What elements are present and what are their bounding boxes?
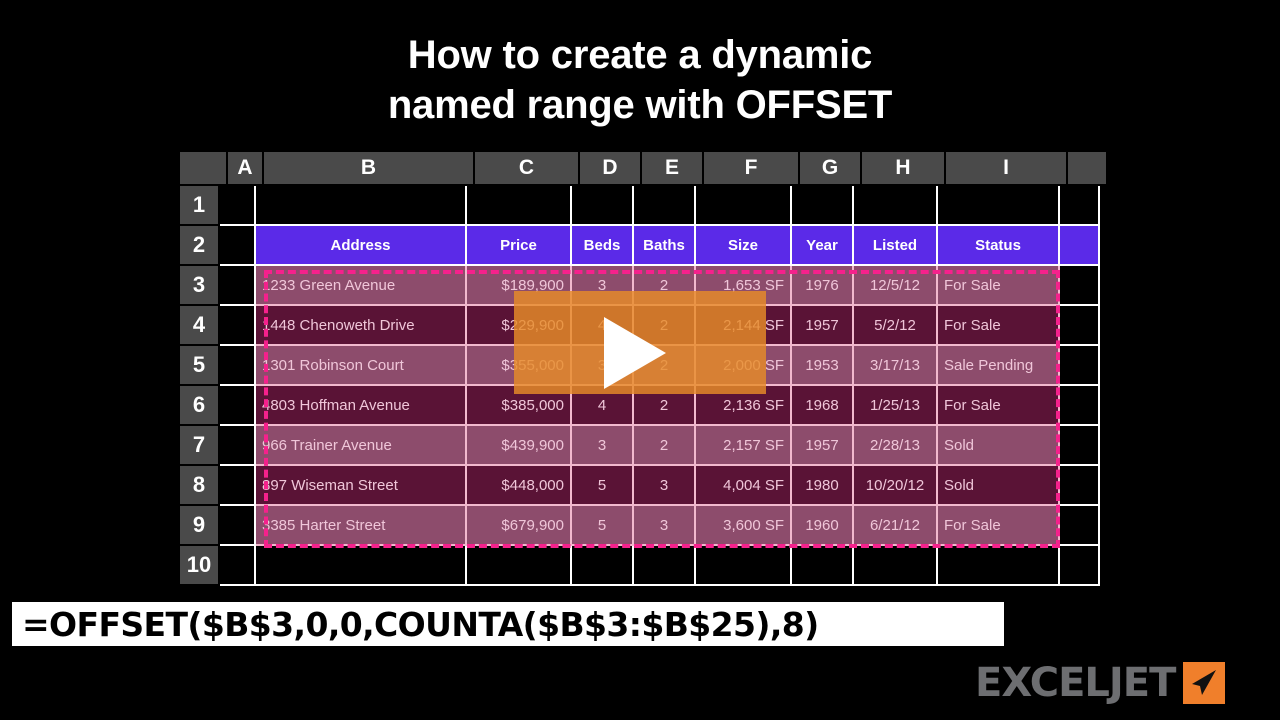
column-header-e[interactable]: E [642,152,704,186]
sheet-row-1: 1 [180,186,1100,226]
cell-h4[interactable]: 5/2/12 [854,306,938,346]
title-line-2: named range with OFFSET [0,80,1280,130]
cell-g3[interactable]: 1976 [792,266,854,306]
page-title: How to create a dynamic named range with… [0,30,1280,130]
column-header-c[interactable]: C [475,152,580,186]
cell-i5[interactable]: Sale Pending [938,346,1060,386]
row-header-1[interactable]: 1 [180,186,220,226]
row-header-2[interactable]: 2 [180,226,220,266]
cell-g7[interactable]: 1957 [792,426,854,466]
cell-j1[interactable] [1060,186,1100,226]
cell-g5[interactable]: 1953 [792,346,854,386]
cell-b4[interactable]: 1448 Chenoweth Drive [256,306,467,346]
cell-e1[interactable] [634,186,696,226]
table-row: 7 966 Trainer Avenue $439,900 3 2 2,157 … [180,426,1100,466]
cell-c1[interactable] [467,186,572,226]
cell-b7[interactable]: 966 Trainer Avenue [256,426,467,466]
table-header-price[interactable]: Price [467,226,572,266]
table-header-listed[interactable]: Listed [854,226,938,266]
table-header-address[interactable]: Address [256,226,467,266]
cell-h6[interactable]: 1/25/13 [854,386,938,426]
cell-j8[interactable] [1060,466,1100,506]
cell-a6[interactable] [220,386,256,426]
exceljet-arrow-icon [1183,662,1225,704]
table-header-size[interactable]: Size [696,226,792,266]
row-header-8[interactable]: 8 [180,466,220,506]
cell-e7[interactable]: 2 [634,426,696,466]
title-line-1: How to create a dynamic [0,30,1280,80]
cell-f9[interactable]: 3,600 SF [696,506,792,546]
cell-j5[interactable] [1060,346,1100,386]
cell-b1[interactable] [256,186,467,226]
table-header-beds[interactable]: Beds [572,226,634,266]
cell-i7[interactable]: Sold [938,426,1060,466]
cell-d10[interactable] [572,546,634,586]
row-header-3[interactable]: 3 [180,266,220,306]
row-header-6[interactable]: 6 [180,386,220,426]
cell-j3[interactable] [1060,266,1100,306]
cell-h9[interactable]: 6/21/12 [854,506,938,546]
exceljet-logo: EXCELJET [975,660,1225,706]
cell-c10[interactable] [467,546,572,586]
cell-a3[interactable] [220,266,256,306]
cell-a4[interactable] [220,306,256,346]
cell-a2[interactable] [220,226,256,266]
cell-g6[interactable]: 1968 [792,386,854,426]
row-header-9[interactable]: 9 [180,506,220,546]
cell-g8[interactable]: 1980 [792,466,854,506]
column-header-b[interactable]: B [264,152,475,186]
cell-h8[interactable]: 10/20/12 [854,466,938,506]
row-header-5[interactable]: 5 [180,346,220,386]
grid-corner[interactable] [180,152,228,186]
cell-g9[interactable]: 1960 [792,506,854,546]
cell-d9[interactable]: 5 [572,506,634,546]
cell-h3[interactable]: 12/5/12 [854,266,938,306]
cell-e9[interactable]: 3 [634,506,696,546]
row-header-10[interactable]: 10 [180,546,220,586]
cell-b9[interactable]: 3385 Harter Street [256,506,467,546]
cell-c7[interactable]: $439,900 [467,426,572,466]
cell-j6[interactable] [1060,386,1100,426]
table-header-trailing[interactable] [1060,226,1100,266]
column-header-i[interactable]: I [946,152,1068,186]
cell-i4[interactable]: For Sale [938,306,1060,346]
cell-h1[interactable] [854,186,938,226]
logo-wordmark: EXCELJET [975,660,1175,706]
column-header-row: A B C D E F G H I [180,152,1100,186]
slide-canvas: How to create a dynamic named range with… [0,0,1280,720]
cell-g10[interactable] [792,546,854,586]
cell-f7[interactable]: 2,157 SF [696,426,792,466]
column-header-f[interactable]: F [704,152,800,186]
row-header-4[interactable]: 4 [180,306,220,346]
cell-a8[interactable] [220,466,256,506]
cell-h7[interactable]: 2/28/13 [854,426,938,466]
cell-j4[interactable] [1060,306,1100,346]
cell-h10[interactable] [854,546,938,586]
cell-f8[interactable]: 4,004 SF [696,466,792,506]
cell-b3[interactable]: 1233 Green Avenue [256,266,467,306]
sheet-row-10: 10 [180,546,1100,586]
cell-a7[interactable] [220,426,256,466]
play-triangle-icon[interactable] [604,317,666,389]
column-header-a[interactable]: A [228,152,264,186]
column-header-h[interactable]: H [862,152,946,186]
column-header-d[interactable]: D [580,152,642,186]
column-header-j[interactable] [1068,152,1108,186]
formula-text: =OFFSET($B$3,0,0,COUNTA($B$3:$B$25),8) [22,605,819,644]
cell-e10[interactable] [634,546,696,586]
cell-c9[interactable]: $679,900 [467,506,572,546]
cell-h5[interactable]: 3/17/13 [854,346,938,386]
cell-f10[interactable] [696,546,792,586]
cell-i1[interactable] [938,186,1060,226]
cell-i10[interactable] [938,546,1060,586]
table-header-baths[interactable]: Baths [634,226,696,266]
cell-j9[interactable] [1060,506,1100,546]
cell-d7[interactable]: 3 [572,426,634,466]
cell-b5[interactable]: 1301 Robinson Court [256,346,467,386]
cell-i9[interactable]: For Sale [938,506,1060,546]
cell-b8[interactable]: 897 Wiseman Street [256,466,467,506]
cell-i3[interactable]: For Sale [938,266,1060,306]
cell-i6[interactable]: For Sale [938,386,1060,426]
cell-a1[interactable] [220,186,256,226]
cell-e8[interactable]: 3 [634,466,696,506]
cell-a5[interactable] [220,346,256,386]
cell-d8[interactable]: 5 [572,466,634,506]
cell-i8[interactable]: Sold [938,466,1060,506]
cell-g4[interactable]: 1957 [792,306,854,346]
cell-b10[interactable] [256,546,467,586]
cell-g1[interactable] [792,186,854,226]
sheet-row-2: 2 Address Price Beds Baths Size Year Lis… [180,226,1100,266]
table-header-year[interactable]: Year [792,226,854,266]
table-header-status[interactable]: Status [938,226,1060,266]
cell-c8[interactable]: $448,000 [467,466,572,506]
cell-f1[interactable] [696,186,792,226]
column-header-g[interactable]: G [800,152,862,186]
table-row: 9 3385 Harter Street $679,900 5 3 3,600 … [180,506,1100,546]
table-row: 8 897 Wiseman Street $448,000 5 3 4,004 … [180,466,1100,506]
cell-j7[interactable] [1060,426,1100,466]
row-header-7[interactable]: 7 [180,426,220,466]
cell-d1[interactable] [572,186,634,226]
cell-a9[interactable] [220,506,256,546]
cell-a10[interactable] [220,546,256,586]
cell-b6[interactable]: 4803 Hoffman Avenue [256,386,467,426]
cell-j10[interactable] [1060,546,1100,586]
formula-bar[interactable]: =OFFSET($B$3,0,0,COUNTA($B$3:$B$25),8) [12,602,1004,646]
